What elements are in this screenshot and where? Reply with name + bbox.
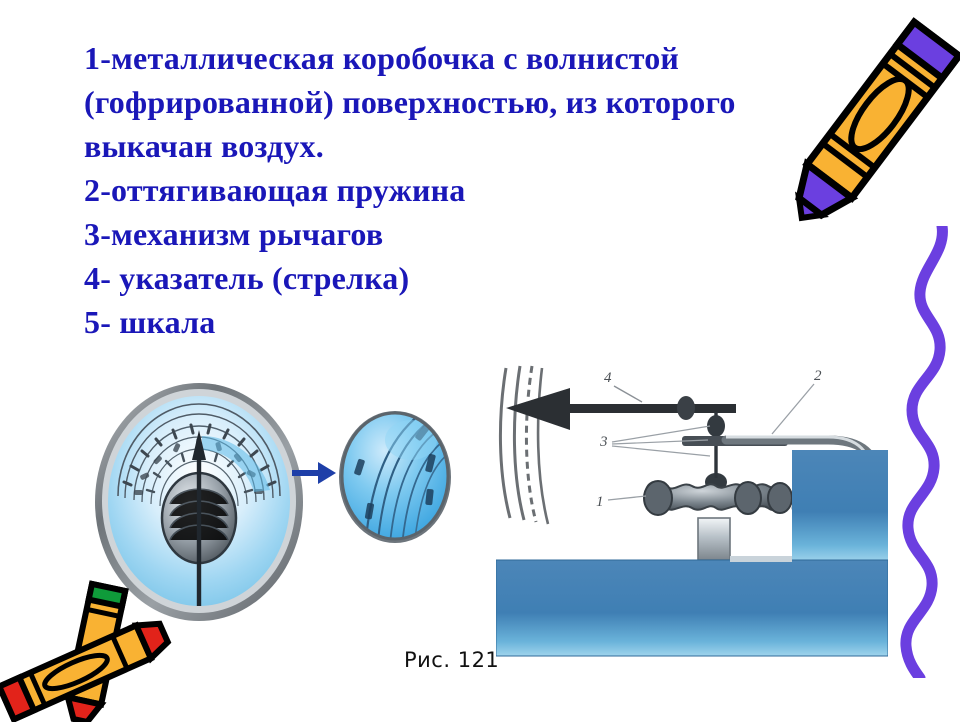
instrument-base: [496, 450, 888, 656]
crayon-pair-decoration: [0, 572, 182, 722]
legend-line-3: выкачан воздух.: [84, 124, 864, 168]
crayon-orange-icon: [784, 2, 960, 242]
aneroid-bellows: [644, 481, 792, 515]
aneroid-capsule-figure: [325, 402, 465, 552]
svg-text:2: 2: [814, 368, 822, 384]
aneroid-capsule-svg: [325, 402, 465, 552]
callout-2: 2: [772, 368, 822, 434]
svg-text:3: 3: [599, 434, 608, 450]
svg-text:1: 1: [596, 494, 604, 510]
mechanism-figure: 4 3: [496, 360, 888, 662]
lever-linkage: [682, 412, 788, 491]
slide-canvas: 1-металлическая коробочка с волнистой (г…: [0, 0, 960, 720]
legend-line-1: 1-металлическая коробочка с волнистой: [84, 36, 864, 80]
legend-line-7: 5- шкала: [84, 300, 864, 344]
scale-arc-group: [500, 366, 548, 524]
legend-text-block: 1-металлическая коробочка с волнистой (г…: [84, 36, 864, 344]
callout-3: 3: [599, 426, 710, 456]
figure-caption: Рис. 121: [404, 648, 499, 672]
legend-line-5: 3-механизм рычагов: [84, 212, 864, 256]
legend-line-4: 2-оттягивающая пружина: [84, 168, 864, 212]
callout-4: 4: [604, 370, 642, 402]
crayon-pair-icon: [0, 572, 182, 722]
crayon-squiggle-decoration: [888, 226, 960, 678]
crayon-orange-decoration: [784, 2, 960, 242]
mounting-post: [698, 518, 730, 560]
mechanism-svg: 4 3: [496, 360, 888, 662]
squiggle-line: [888, 226, 960, 678]
legend-line-2: (гофрированной) поверхностью, из которог…: [84, 80, 864, 124]
callout-1: 1: [596, 494, 646, 510]
legend-line-6: 4- указатель (стрелка): [84, 256, 864, 300]
svg-text:4: 4: [604, 370, 612, 386]
